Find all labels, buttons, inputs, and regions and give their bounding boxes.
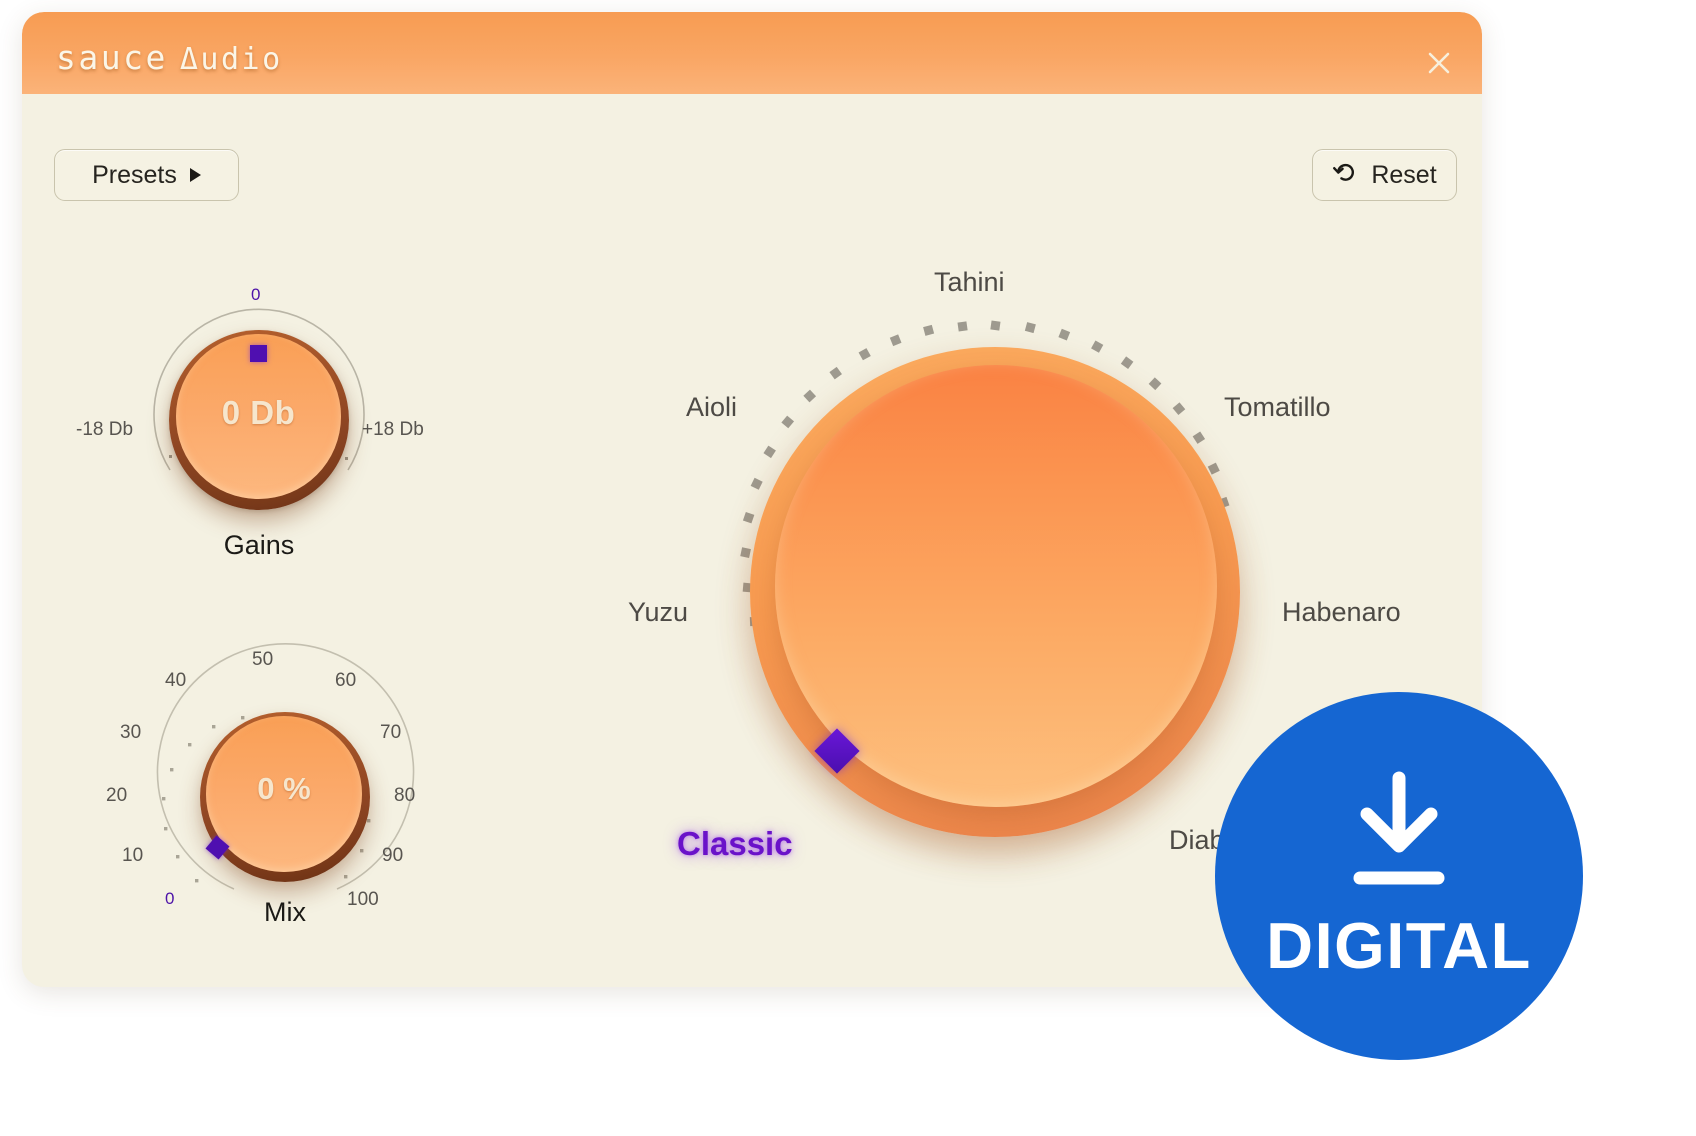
- mix-tick-50: 50: [252, 649, 273, 671]
- mix-tick-60: 60: [335, 670, 356, 692]
- mix-tick-20: 20: [106, 785, 127, 807]
- close-icon[interactable]: [1422, 46, 1456, 80]
- presets-button-label: Presets: [92, 161, 177, 190]
- gains-knob-value: 0 Db: [176, 394, 341, 432]
- rotate-ccw-icon: [1332, 159, 1358, 192]
- reset-button[interactable]: Reset: [1312, 149, 1457, 201]
- presets-button[interactable]: Presets: [54, 149, 239, 201]
- brand-logo: sauce Δudio: [56, 38, 283, 77]
- brand-delta-audio: Δudio: [180, 42, 283, 77]
- mix-knob-caption: Mix: [200, 897, 370, 928]
- mix-tick-40: 40: [165, 670, 186, 692]
- sauce-option-habenaro[interactable]: Habenaro: [1282, 597, 1401, 628]
- mix-tick-70: 70: [380, 722, 401, 744]
- gains-knob-caption: Gains: [169, 530, 349, 561]
- download-icon: [1324, 770, 1474, 902]
- sauce-option-tahini[interactable]: Tahini: [934, 267, 1005, 298]
- sauce-option-tomatillo[interactable]: Tomatillo: [1224, 392, 1331, 423]
- gains-top-marker: 0: [251, 285, 260, 305]
- digital-download-badge[interactable]: DIGITAL: [1215, 692, 1583, 1060]
- reset-button-label: Reset: [1371, 161, 1436, 190]
- gains-max-label: +18 Db: [362, 419, 424, 441]
- mix-tick-90: 90: [382, 845, 403, 867]
- title-bar: sauce Δudio: [22, 12, 1482, 94]
- mix-knob-value: 0 %: [206, 771, 362, 807]
- mix-tick-10: 10: [122, 845, 143, 867]
- gains-min-label: -18 Db: [76, 419, 133, 441]
- sauce-option-aioli[interactable]: Aioli: [686, 392, 737, 423]
- gains-knob-group: 0 -18 Db +18 Db 0 Db Gains: [112, 262, 432, 592]
- mix-knob-group: 50 40 60 30 70 20 80 10 90 0 100 0 % Mix: [82, 617, 462, 937]
- sauce-option-yuzu[interactable]: Yuzu: [628, 597, 688, 628]
- sauce-selector-group: Tahini Aioli Tomatillo Yuzu Habenaro Cla…: [642, 237, 1262, 937]
- brand-name: sauce: [56, 38, 168, 77]
- sauce-option-classic[interactable]: Classic: [677, 825, 793, 863]
- mix-tick-80: 80: [394, 785, 415, 807]
- mix-tick-0: 0: [165, 889, 174, 909]
- gains-knob-pointer[interactable]: [250, 345, 267, 362]
- mix-tick-30: 30: [120, 722, 141, 744]
- caret-right-icon: [190, 168, 201, 182]
- digital-badge-label: DIGITAL: [1266, 908, 1532, 983]
